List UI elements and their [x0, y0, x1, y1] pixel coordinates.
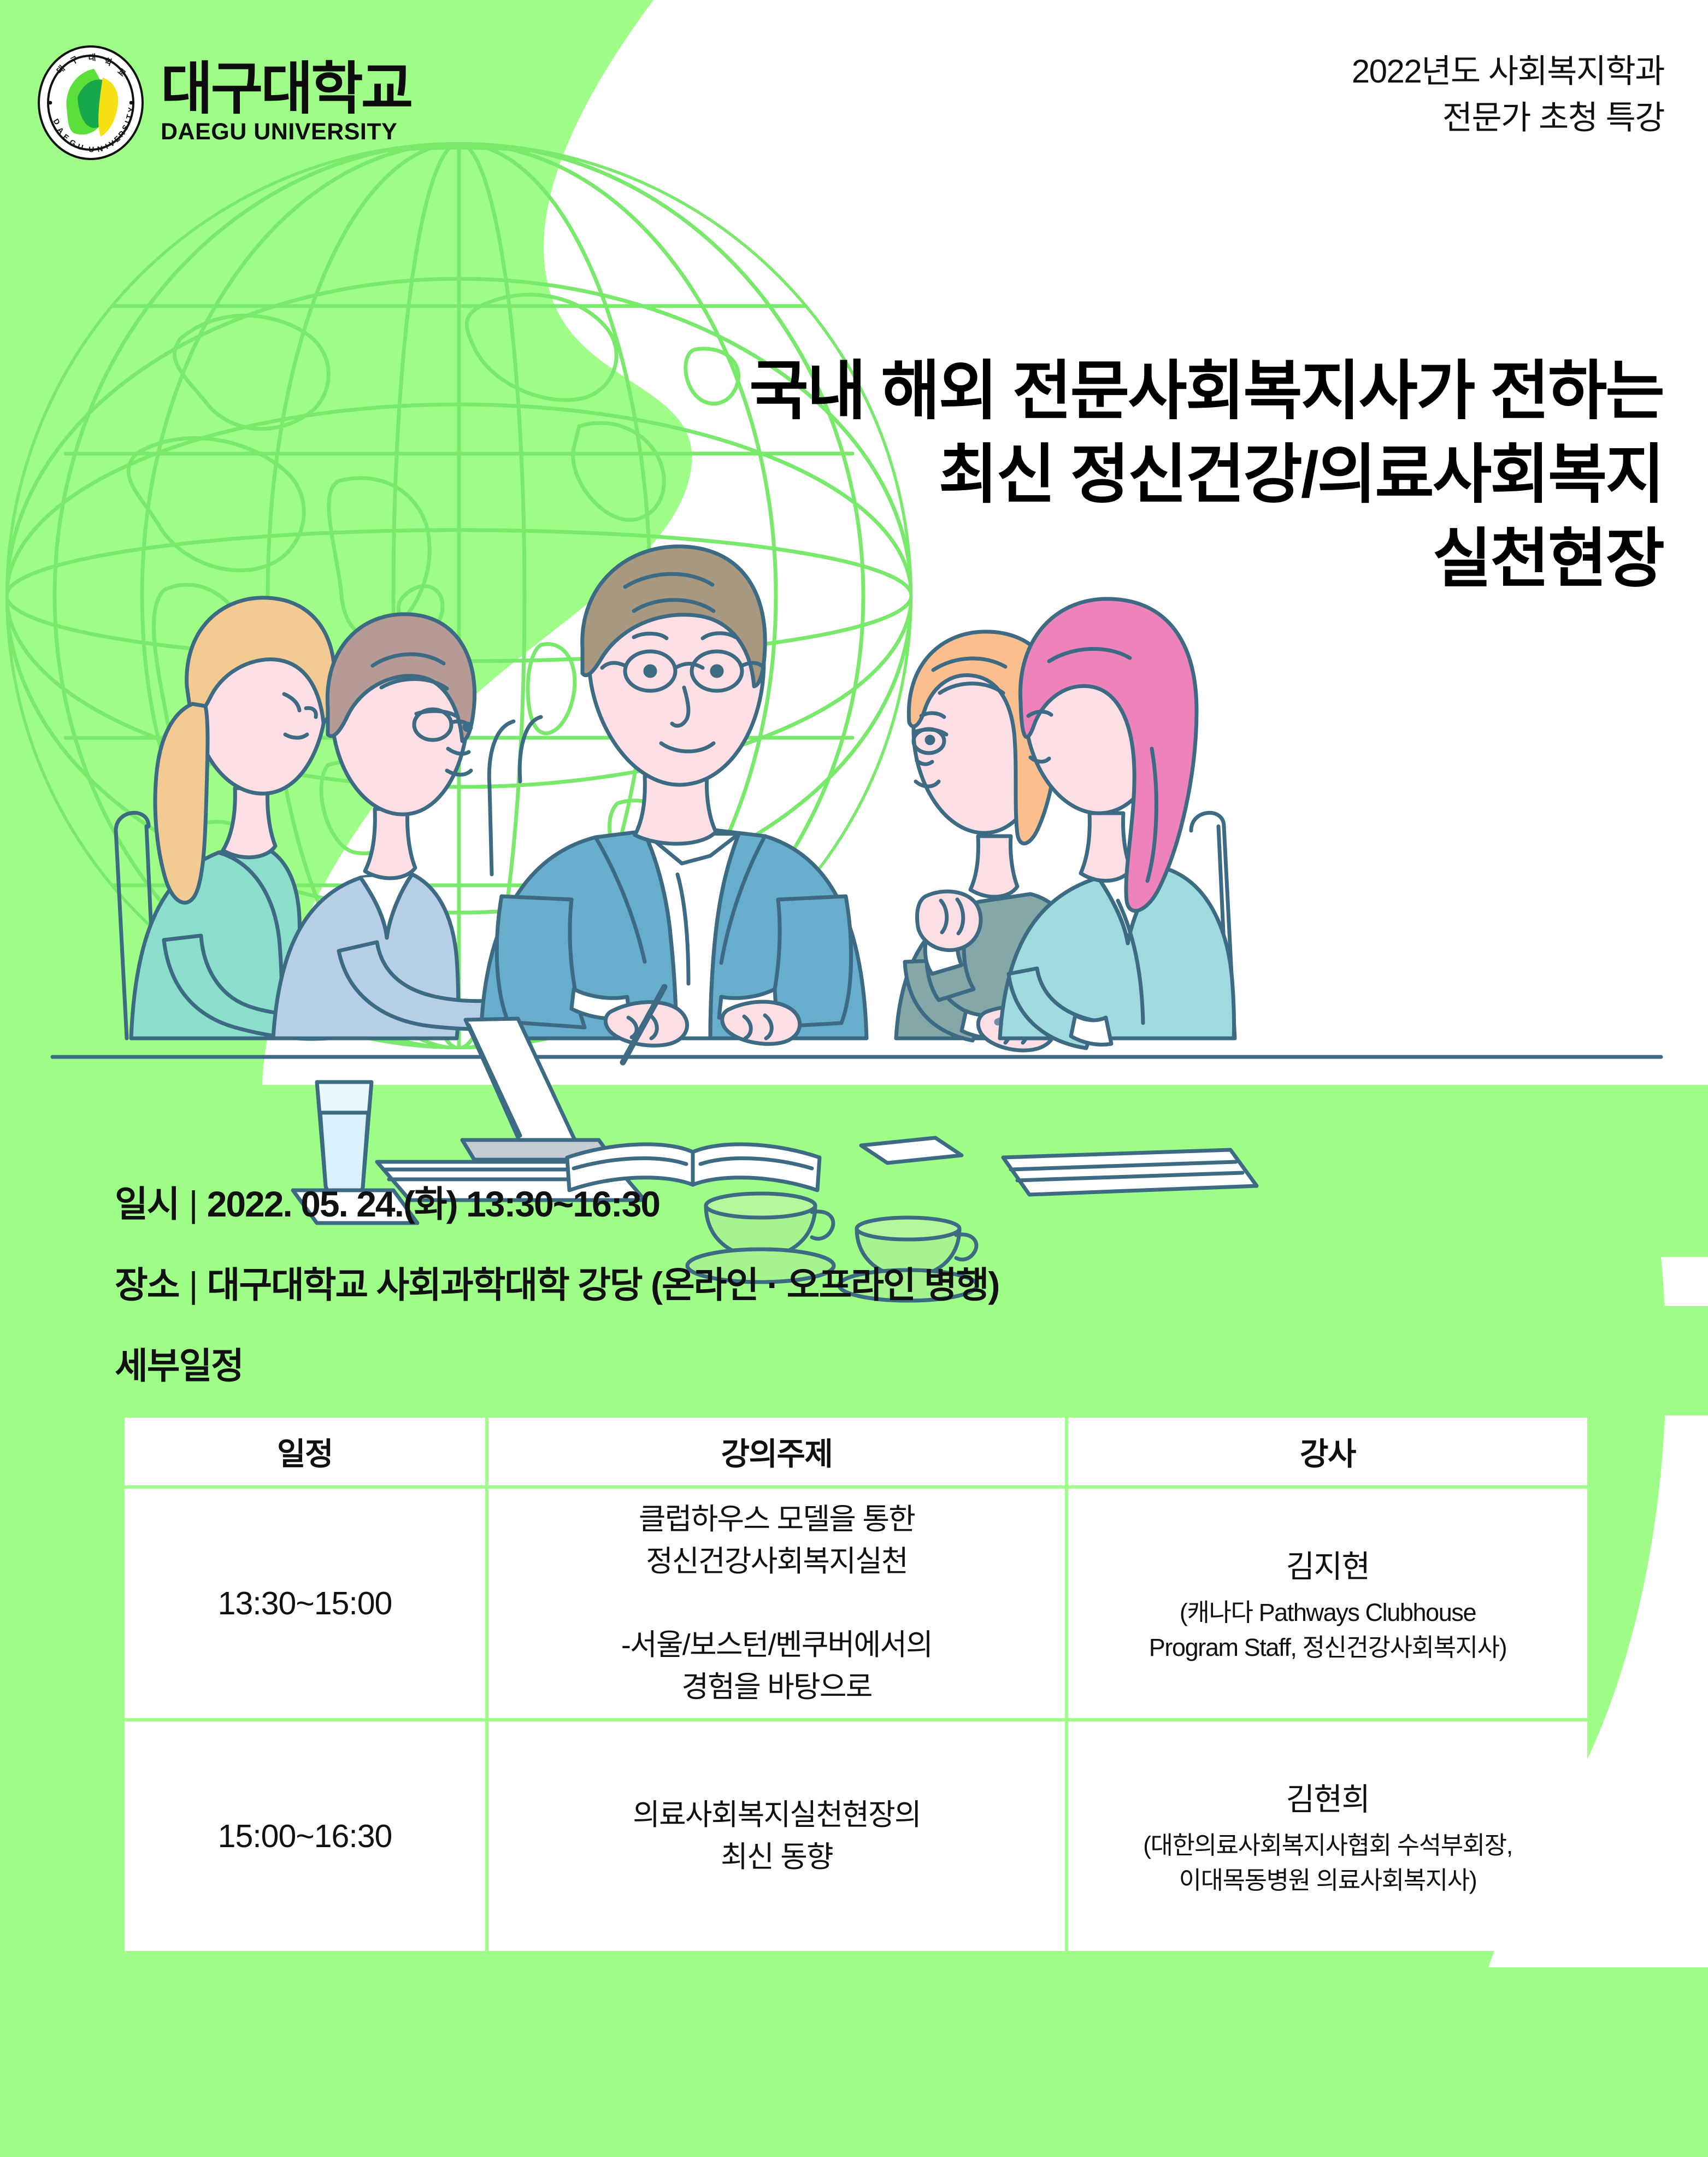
series-line-1: 2022년도 사회복지학과: [1352, 48, 1664, 95]
poster-main-title: 국내 해외 전문사회복지사가 전하는 최신 정신건강/의료사회복지 실천현장: [516, 350, 1663, 601]
row1-lecturer-name: 김지현: [1076, 1542, 1580, 1586]
table-row: 15:00~16:30 의료사회복지실천현장의 최신 동향 김현희 (대한의료사…: [125, 1721, 1587, 1951]
daegu-university-seal-icon: 대 구 대 학 교 D A E G U U N I V E R S I T: [36, 45, 145, 161]
poster-root: 대 구 대 학 교 D A E G U U N I V E R S I T: [0, 0, 1708, 2157]
row2-topic: 의료사회복지실천현장의 최신 동향: [488, 1721, 1065, 1951]
row1-time: 13:30~15:00: [125, 1489, 485, 1718]
row1-lecturer-affiliation: (캐나다 Pathways Clubhouse Program Staff, 정…: [1076, 1595, 1580, 1665]
place-separator: |: [179, 1264, 207, 1306]
place-label: 장소: [115, 1256, 179, 1308]
header-topic: 강의주제: [488, 1418, 1065, 1485]
table-row: 13:30~15:00 클럽하우스 모델을 통한 정신건강사회복지실천 -서울/…: [125, 1489, 1587, 1718]
svg-text:Y: Y: [126, 107, 136, 113]
svg-text:U: U: [89, 145, 95, 154]
row2-lecturer: 김현희 (대한의료사회복지사협회 수석부회장, 이대목동병원 의료사회복지사): [1068, 1721, 1587, 1951]
logo-wordmark: 대구대학교 DAEGU UNIVERSITY: [161, 61, 411, 144]
place-value: 대구대학교 사회과학대학 강당 (온라인 · 오프라인 병행): [207, 1256, 999, 1308]
row2-lecturer-name: 김현희: [1076, 1774, 1580, 1819]
row1-topic: 클럽하우스 모델을 통한 정신건강사회복지실천 -서울/보스턴/벤쿠버에서의 경…: [488, 1489, 1065, 1718]
table-header-row: 일정 강의주제 강사: [125, 1418, 1587, 1485]
header-schedule: 일정: [125, 1418, 485, 1485]
svg-text:대: 대: [88, 53, 96, 63]
event-series-heading: 2022년도 사회복지학과 전문가 초청 특강: [1352, 48, 1664, 141]
info-row-place: 장소 | 대구대학교 사회과학대학 강당 (온라인 · 오프라인 병행): [115, 1256, 1426, 1308]
info-row-date: 일시 | 2022. 05. 24.(화) 13:30~16:30: [115, 1175, 1426, 1227]
logo-english-name: DAEGU UNIVERSITY: [161, 120, 411, 144]
university-logo: 대 구 대 학 교 D A E G U U N I V E R S I T: [36, 45, 411, 161]
row2-time: 15:00~16:30: [125, 1721, 485, 1951]
event-info-block: 일시 | 2022. 05. 24.(화) 13:30~16:30 장소 | 대…: [115, 1175, 1426, 1410]
logo-korean-name: 대구대학교: [161, 61, 411, 117]
row2-lecturer-affiliation: (대한의료사회복지사협회 수석부회장, 이대목동병원 의료사회복지사): [1076, 1828, 1580, 1898]
detail-schedule-label: 세부일정: [115, 1337, 243, 1389]
date-label: 일시: [115, 1175, 179, 1227]
date-value: 2022. 05. 24.(화) 13:30~16:30: [207, 1175, 660, 1227]
row1-lecturer: 김지현 (캐나다 Pathways Clubhouse Program Staf…: [1068, 1489, 1587, 1718]
header-lecturer: 강사: [1068, 1418, 1587, 1485]
series-line-2: 전문가 초청 특강: [1352, 95, 1664, 141]
info-row-detail: 세부일정: [115, 1337, 1426, 1389]
date-separator: |: [179, 1183, 207, 1225]
schedule-table: 일정 강의주제 강사 13:30~15:00 클럽하우스 모델을 통한 정신건강…: [121, 1414, 1591, 1954]
